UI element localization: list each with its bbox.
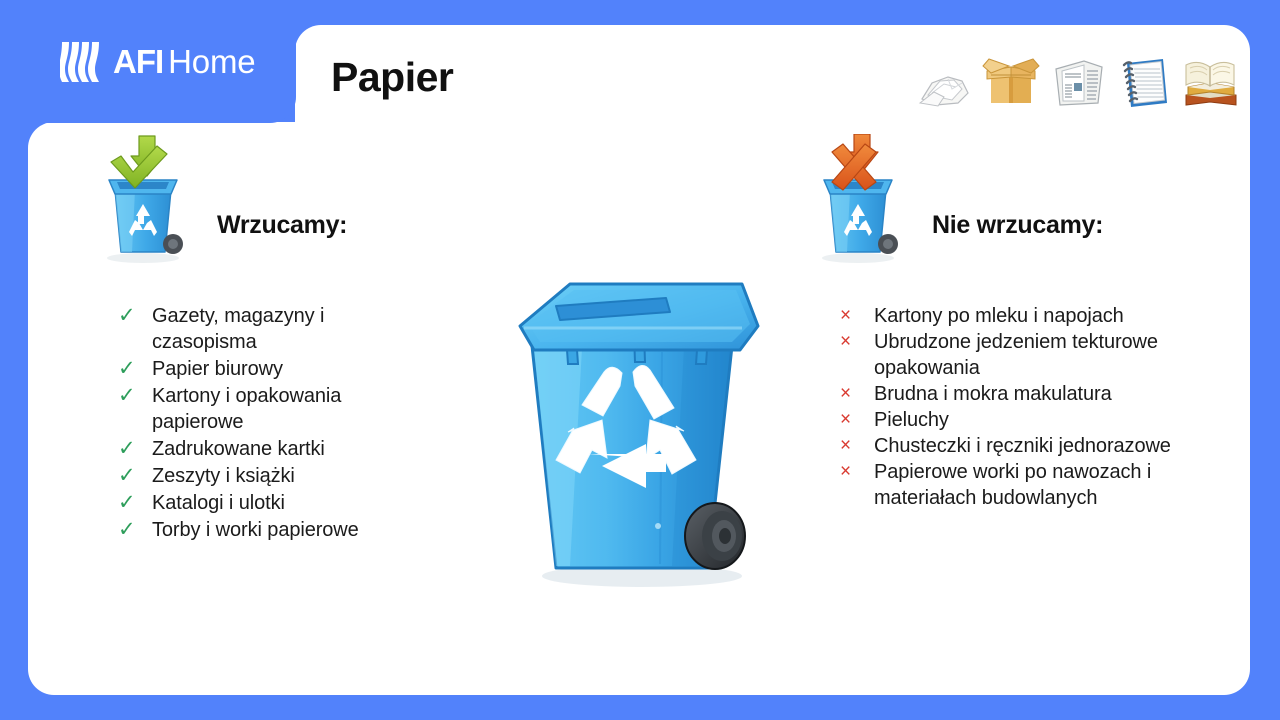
- list-item: ✓ Zeszyty i książki: [118, 463, 428, 489]
- list-item-label: Papierowe worki po nawozach i materiałac…: [874, 459, 1180, 511]
- list-item: × Brudna i mokra makulatura: [840, 381, 1180, 407]
- blue-bin-red-cross-icon: [810, 134, 906, 264]
- accepted-heading: Wrzucamy:: [217, 211, 347, 240]
- logo-name-light: Home: [168, 45, 255, 78]
- list-item: ✓ Papier biurowy: [118, 356, 428, 382]
- blue-wheelie-recycling-bin-icon: [470, 268, 800, 598]
- list-item-label: Ubrudzone jedzeniem tekturowe opakowania: [874, 329, 1180, 381]
- books-icon: [1180, 55, 1242, 109]
- crumpled-paper-icon: [918, 59, 972, 109]
- cross-icon: ×: [840, 381, 874, 407]
- cross-icon: ×: [840, 459, 874, 485]
- notebook-icon: [1117, 55, 1171, 109]
- list-item: ✓ Zadrukowane kartki: [118, 436, 428, 462]
- list-item: ✓ Kartony i opakowania papierowe: [118, 383, 428, 435]
- logo[interactable]: AFI Home: [60, 42, 255, 82]
- check-icon: ✓: [118, 517, 152, 543]
- cross-icon: ×: [840, 407, 874, 433]
- check-icon: ✓: [118, 463, 152, 489]
- check-icon: ✓: [118, 303, 152, 329]
- check-icon: ✓: [118, 356, 152, 382]
- list-item: ✓ Katalogi i ulotki: [118, 490, 428, 516]
- check-icon: ✓: [118, 383, 152, 409]
- afi-wave-mark-icon: [60, 42, 104, 82]
- list-item-label: Torby i worki papierowe: [152, 517, 359, 543]
- brand-header: AFI Home: [0, 0, 296, 123]
- list-item: × Ubrudzone jedzeniem tekturowe opakowan…: [840, 329, 1180, 381]
- cross-icon: ×: [840, 329, 874, 355]
- list-item: × Papierowe worki po nawozach i materiał…: [840, 459, 1180, 511]
- cross-icon: ×: [840, 433, 874, 459]
- accepted-column-header: Wrzucamy:: [95, 134, 347, 264]
- list-item-label: Pieluchy: [874, 407, 949, 433]
- list-item-label: Kartony po mleku i napojach: [874, 303, 1124, 329]
- list-item: × Chusteczki i ręczniki jednorazowe: [840, 433, 1180, 459]
- list-item-label: Kartony i opakowania papierowe: [152, 383, 428, 435]
- check-icon: ✓: [118, 490, 152, 516]
- list-item: × Pieluchy: [840, 407, 1180, 433]
- list-item: ✓ Gazety, magazyny i czasopisma: [118, 303, 428, 355]
- cross-icon: ×: [840, 303, 874, 329]
- page-title: Papier: [331, 57, 453, 98]
- list-item-label: Zadrukowane kartki: [152, 436, 325, 462]
- accepted-list: ✓ Gazety, magazyny i czasopisma ✓ Papier…: [118, 303, 428, 544]
- blue-bin-green-check-icon: [95, 134, 191, 264]
- newspaper-icon: [1050, 55, 1108, 109]
- logo-name-bold: AFI: [113, 45, 163, 78]
- list-item-label: Chusteczki i ręczniki jednorazowe: [874, 433, 1171, 459]
- rejected-heading: Nie wrzucamy:: [932, 211, 1103, 240]
- slide-root: AFI Home Papier: [0, 0, 1280, 720]
- list-item-label: Papier biurowy: [152, 356, 283, 382]
- list-item-label: Katalogi i ulotki: [152, 490, 285, 516]
- rejected-list: × Kartony po mleku i napojach × Ubrudzon…: [840, 303, 1180, 511]
- check-icon: ✓: [118, 436, 152, 462]
- list-item-label: Zeszyty i książki: [152, 463, 295, 489]
- list-item: ✓ Torby i worki papierowe: [118, 517, 428, 543]
- list-item: × Kartony po mleku i napojach: [840, 303, 1180, 329]
- rejected-column-header: Nie wrzucamy:: [810, 134, 1103, 264]
- list-item-label: Gazety, magazyny i czasopisma: [152, 303, 428, 355]
- logo-text: AFI Home: [113, 45, 255, 78]
- header-decor-icons: [918, 47, 1238, 109]
- list-item-label: Brudna i mokra makulatura: [874, 381, 1112, 407]
- cardboard-box-icon: [981, 53, 1041, 109]
